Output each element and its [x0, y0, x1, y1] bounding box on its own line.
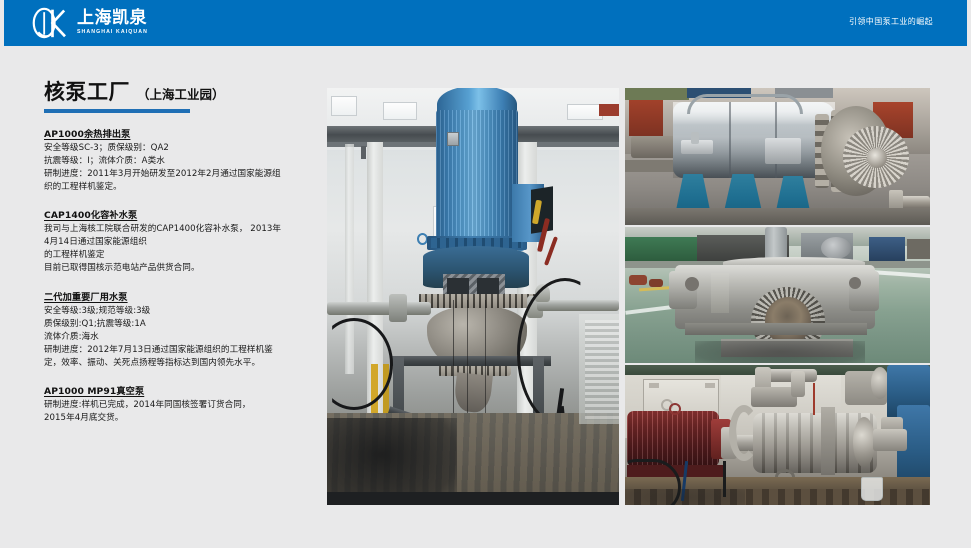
brand-name-cn: 上海凯泉 [77, 10, 148, 28]
photo-red-motor-horizontal-pump-test-bed [625, 365, 930, 505]
section-line: 的工程样机鉴定 [44, 249, 312, 262]
kaiquan-qk-monogram-icon [30, 7, 70, 39]
section-heading: AP1000 MP91真空泵 [44, 383, 312, 397]
brand-logo[interactable]: 上海凯泉 SHANGHAI KAIQUAN [30, 7, 148, 39]
title-underline-rule [44, 109, 190, 113]
page-title: 核泵工厂 （上海工业园） [44, 82, 312, 103]
section-line: 织的工程样机鉴定。 [44, 181, 312, 194]
section-line: 定，效率、振动、关死点扬程等指标达到国内领先水平。 [44, 357, 312, 370]
section-line: 4月14日通过国家能源组织 [44, 236, 312, 249]
section-cap1400-charging-pump: CAP1400化容补水泵 我司与上海核工院联合研发的CAP1400化容补水泵， … [44, 207, 312, 275]
section-gen2-essential-service-water-pump: 二代加重要厂用水泵 安全等级:3级;规范等级:3级 质保级别:Q1;抗震等级:1… [44, 289, 312, 370]
section-heading: 二代加重要厂用水泵 [44, 289, 312, 303]
section-heading: CAP1400化容补水泵 [44, 207, 312, 221]
section-line: 安全等级SC-3；质保级别：QA2 [44, 142, 312, 155]
section-line: 抗震等级：Ⅰ；流体介质：A类水 [44, 155, 312, 168]
section-line: 安全等级:3级;规范等级:3级 [44, 305, 312, 318]
section-ap1000-mp91-vacuum-pump: AP1000 MP91真空泵 研制进度:样机已完成，2014年同国核签署订货合同… [44, 383, 312, 425]
page-header: 上海凯泉 SHANGHAI KAIQUAN 引领中国泵工业的崛起 [4, 0, 967, 46]
section-ap1000-rhr-pump: AP1000余热排出泵 安全等级SC-3；质保级别：QA2 抗震等级：Ⅰ；流体介… [44, 126, 312, 194]
content-left-column: 核泵工厂 （上海工业园） AP1000余热排出泵 安全等级SC-3；质保级别：Q… [44, 82, 312, 425]
photo-stainless-barrel-casing-on-teal-stands [625, 88, 930, 225]
photo-cast-pump-casing-on-workshop-floor [625, 227, 930, 363]
header-tagline: 引领中国泵工业的崛起 [849, 16, 933, 27]
photo-vertical-nuclear-pump-in-factory-hall [327, 88, 619, 505]
section-line: 研制进度：2012年7月13日通过国家能源组织的工程样机鉴 [44, 344, 312, 357]
section-line: 目前已取得国核示范电站产品供货合同。 [44, 262, 312, 275]
section-line: 质保级别:Q1;抗震等级:1A [44, 318, 312, 331]
brand-name-en: SHANGHAI KAIQUAN [77, 29, 148, 35]
section-heading: AP1000余热排出泵 [44, 126, 312, 140]
section-line: 研制进度:样机已完成，2014年同国核签署订货合同， [44, 399, 312, 412]
page-title-sub: （上海工业园） [137, 89, 225, 103]
section-line: 流体介质:海水 [44, 331, 312, 344]
section-line: 2015年4月底交货。 [44, 412, 312, 425]
slide-root: 上海凯泉 SHANGHAI KAIQUAN 引领中国泵工业的崛起 核泵工厂 （上… [0, 0, 971, 548]
page-title-main: 核泵工厂 [44, 82, 130, 103]
section-line: 我司与上海核工院联合研发的CAP1400化容补水泵， 2013年 [44, 223, 312, 236]
section-line: 研制进度：2011年3月开始研发至2012年2月通过国家能源组 [44, 168, 312, 181]
photo-right-column [625, 88, 930, 505]
